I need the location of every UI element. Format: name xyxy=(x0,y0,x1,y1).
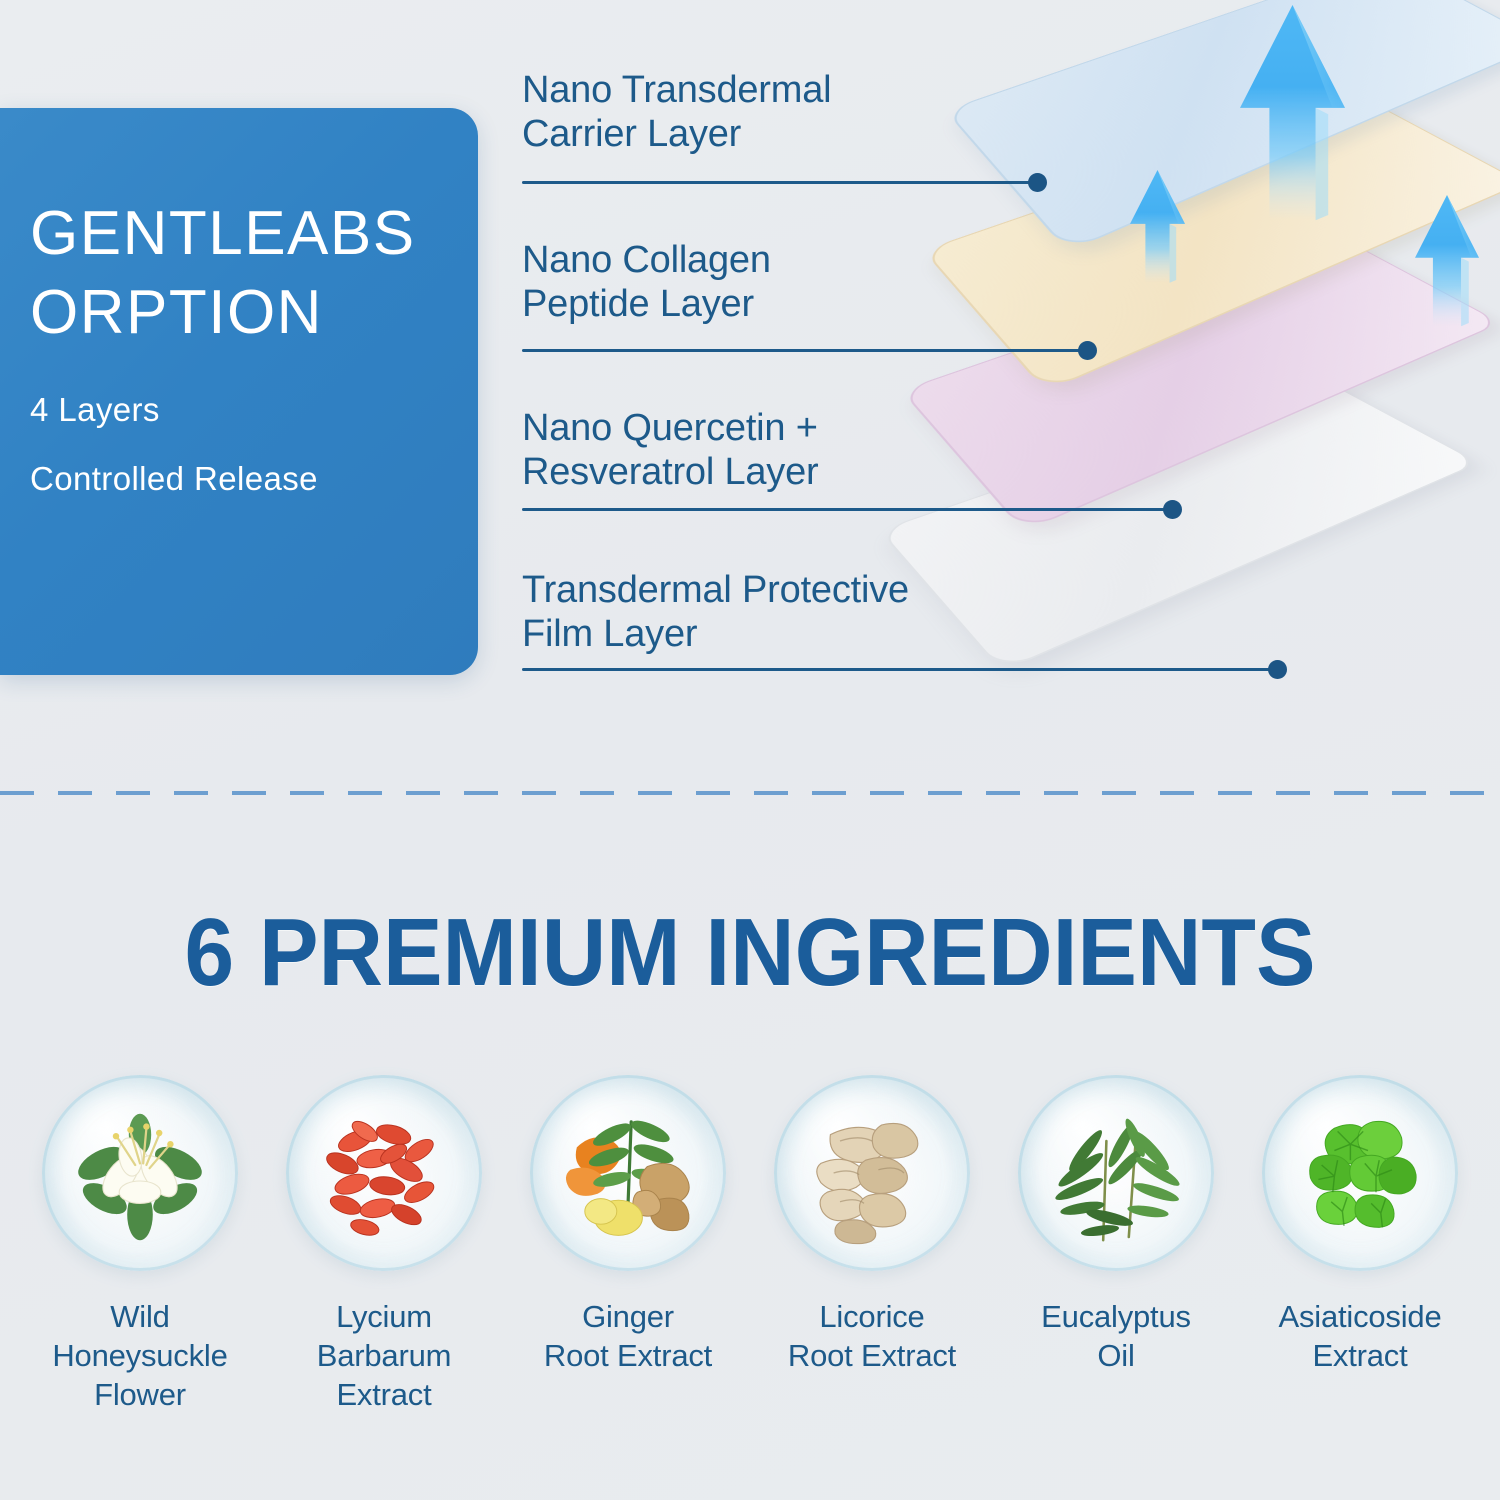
goji-berry-icon xyxy=(304,1093,464,1253)
callout-label-quercetin-resveratrol: Nano Quercetin + Resveratrol Layer xyxy=(522,406,819,495)
brand-subtitle-release: Controlled Release xyxy=(30,462,478,495)
centella-leaf-icon xyxy=(1280,1093,1440,1253)
ingredient-item[interactable]: Lycium Barbarum Extract xyxy=(264,1075,504,1414)
brand-title-line-1: GENTLEABS xyxy=(30,194,478,273)
callout-protective-film: Transdermal Protective Film Layer xyxy=(522,568,909,657)
ingredient-label: Licorice Root Extract xyxy=(788,1297,956,1375)
ingredients-section: 6 PREMIUM INGREDIENTS xyxy=(0,793,1500,1500)
ginger-root-icon xyxy=(548,1093,708,1253)
leader-line-quercetin-resveratrol xyxy=(522,508,1165,511)
ingredient-item[interactable]: Wild Honeysuckle Flower xyxy=(20,1075,260,1414)
leader-line-collagen-peptide xyxy=(522,349,1080,352)
ingredient-bubble-honeysuckle xyxy=(42,1075,238,1271)
ingredients-row: Wild Honeysuckle Flower xyxy=(0,1075,1500,1414)
callout-transdermal-carrier: Nano Transdermal Carrier Layer xyxy=(522,68,831,157)
callout-quercetin-resveratrol: Nano Quercetin + Resveratrol Layer xyxy=(522,406,819,495)
ingredient-item[interactable]: Eucalyptus Oil xyxy=(996,1075,1236,1414)
ingredient-bubble-goji xyxy=(286,1075,482,1271)
honeysuckle-flower-icon xyxy=(60,1093,220,1253)
leader-dot-quercetin-resveratrol xyxy=(1163,500,1182,519)
product-layers-section: GENTLEABS ORPTION 4 Layers Controlled Re… xyxy=(0,0,1500,793)
leader-line-protective-film xyxy=(522,668,1270,671)
leader-dot-transdermal-carrier xyxy=(1028,173,1047,192)
brand-title-line-2: ORPTION xyxy=(30,273,478,352)
leader-dot-collagen-peptide xyxy=(1078,341,1097,360)
brand-subtitle-layers: 4 Layers xyxy=(30,393,478,426)
ingredient-bubble-ginger xyxy=(530,1075,726,1271)
callout-label-transdermal-carrier: Nano Transdermal Carrier Layer xyxy=(522,68,831,157)
ingredient-item[interactable]: Asiaticoside Extract xyxy=(1240,1075,1480,1414)
ingredients-heading: 6 PREMIUM INGREDIENTS xyxy=(53,898,1448,1008)
licorice-root-icon xyxy=(792,1093,952,1253)
ingredient-bubble-centella xyxy=(1262,1075,1458,1271)
leader-line-transdermal-carrier xyxy=(522,181,1030,184)
ingredient-label: Ginger Root Extract xyxy=(544,1297,712,1375)
ingredient-bubble-licorice xyxy=(774,1075,970,1271)
infographic-root: GENTLEABS ORPTION 4 Layers Controlled Re… xyxy=(0,0,1500,1500)
ingredient-item[interactable]: Ginger Root Extract xyxy=(508,1075,748,1414)
callout-label-collagen-peptide: Nano Collagen Peptide Layer xyxy=(522,238,771,327)
callout-collagen-peptide: Nano Collagen Peptide Layer xyxy=(522,238,771,327)
ingredient-label: Lycium Barbarum Extract xyxy=(317,1297,452,1414)
ingredient-item[interactable]: Licorice Root Extract xyxy=(752,1075,992,1414)
leader-dot-protective-film xyxy=(1268,660,1287,679)
layer-stack-graphic xyxy=(870,0,1500,780)
ingredient-label: Eucalyptus Oil xyxy=(1041,1297,1191,1375)
ingredient-label: Wild Honeysuckle Flower xyxy=(52,1297,227,1414)
ingredient-label: Asiaticoside Extract xyxy=(1278,1297,1441,1375)
ingredient-bubble-eucalyptus xyxy=(1018,1075,1214,1271)
brand-card: GENTLEABS ORPTION 4 Layers Controlled Re… xyxy=(0,108,478,675)
callout-label-protective-film: Transdermal Protective Film Layer xyxy=(522,568,909,657)
brand-subtitles: 4 Layers Controlled Release xyxy=(30,393,478,495)
eucalyptus-leaf-icon xyxy=(1036,1093,1196,1253)
